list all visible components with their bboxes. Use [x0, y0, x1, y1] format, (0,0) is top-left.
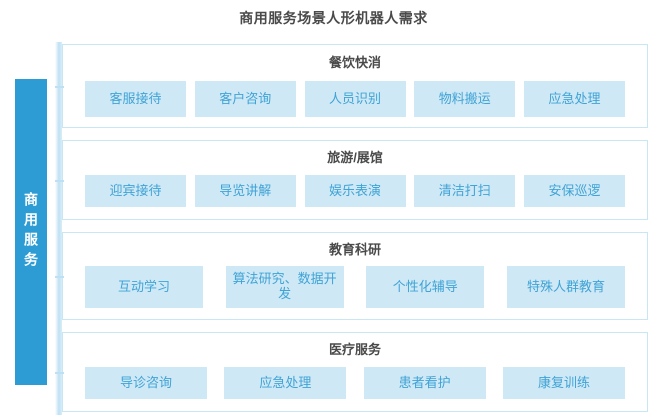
tag-item[interactable]: 清洁打扫	[414, 175, 515, 207]
page-title: 商用服务场景人形机器人需求	[0, 8, 667, 28]
tag-item[interactable]: 患者看护	[364, 367, 486, 399]
tag-item[interactable]: 迎宾接待	[85, 175, 186, 207]
tag-item[interactable]: 安保巡逻	[524, 175, 625, 207]
tag-row: 客服接待 客户咨询 人员识别 物料搬运 应急处理	[63, 81, 647, 117]
section-medical-service: 医疗服务 导诊咨询 应急处理 患者看护 康复训练	[62, 332, 648, 412]
tag-row: 导诊咨询 应急处理 患者看护 康复训练	[63, 367, 647, 399]
tag-item[interactable]: 人员识别	[305, 81, 406, 117]
tag-item[interactable]: 算法研究、数据开发	[226, 266, 344, 308]
section-header: 医疗服务	[63, 343, 647, 356]
tag-item[interactable]: 康复训练	[503, 367, 625, 399]
section-connector	[55, 180, 64, 182]
tag-item[interactable]: 导览讲解	[195, 175, 296, 207]
tag-item[interactable]: 应急处理	[524, 81, 625, 117]
section-connector	[55, 276, 64, 278]
tag-item[interactable]: 客服接待	[85, 81, 186, 117]
tag-item[interactable]: 特殊人群教育	[507, 266, 625, 308]
category-bar: 商用服务	[15, 79, 47, 385]
tag-item[interactable]: 导诊咨询	[85, 367, 207, 399]
section-connector	[55, 372, 64, 374]
tag-item[interactable]: 客户咨询	[195, 81, 296, 117]
section-header: 餐饮快消	[63, 56, 647, 69]
section-header: 教育科研	[63, 243, 647, 256]
section-education-research: 教育科研 互动学习 算法研究、数据开发 个性化辅导 特殊人群教育	[62, 232, 648, 320]
category-bar-label: 商用服务	[24, 192, 38, 272]
tag-row: 迎宾接待 导览讲解 娱乐表演 清洁打扫 安保巡逻	[63, 175, 647, 207]
tag-item[interactable]: 个性化辅导	[366, 266, 484, 308]
section-connector	[55, 86, 64, 88]
tag-item[interactable]: 互动学习	[85, 266, 203, 308]
tag-item[interactable]: 娱乐表演	[305, 175, 406, 207]
tag-item[interactable]: 物料搬运	[414, 81, 515, 117]
connector-spine	[55, 42, 62, 415]
tag-item[interactable]: 应急处理	[224, 367, 346, 399]
tag-row: 互动学习 算法研究、数据开发 个性化辅导 特殊人群教育	[63, 266, 647, 308]
section-catering: 餐饮快消 客服接待 客户咨询 人员识别 物料搬运 应急处理	[62, 44, 648, 128]
section-tourism-exhibition: 旅游/展馆 迎宾接待 导览讲解 娱乐表演 清洁打扫 安保巡逻	[62, 140, 648, 220]
section-header: 旅游/展馆	[63, 151, 647, 164]
